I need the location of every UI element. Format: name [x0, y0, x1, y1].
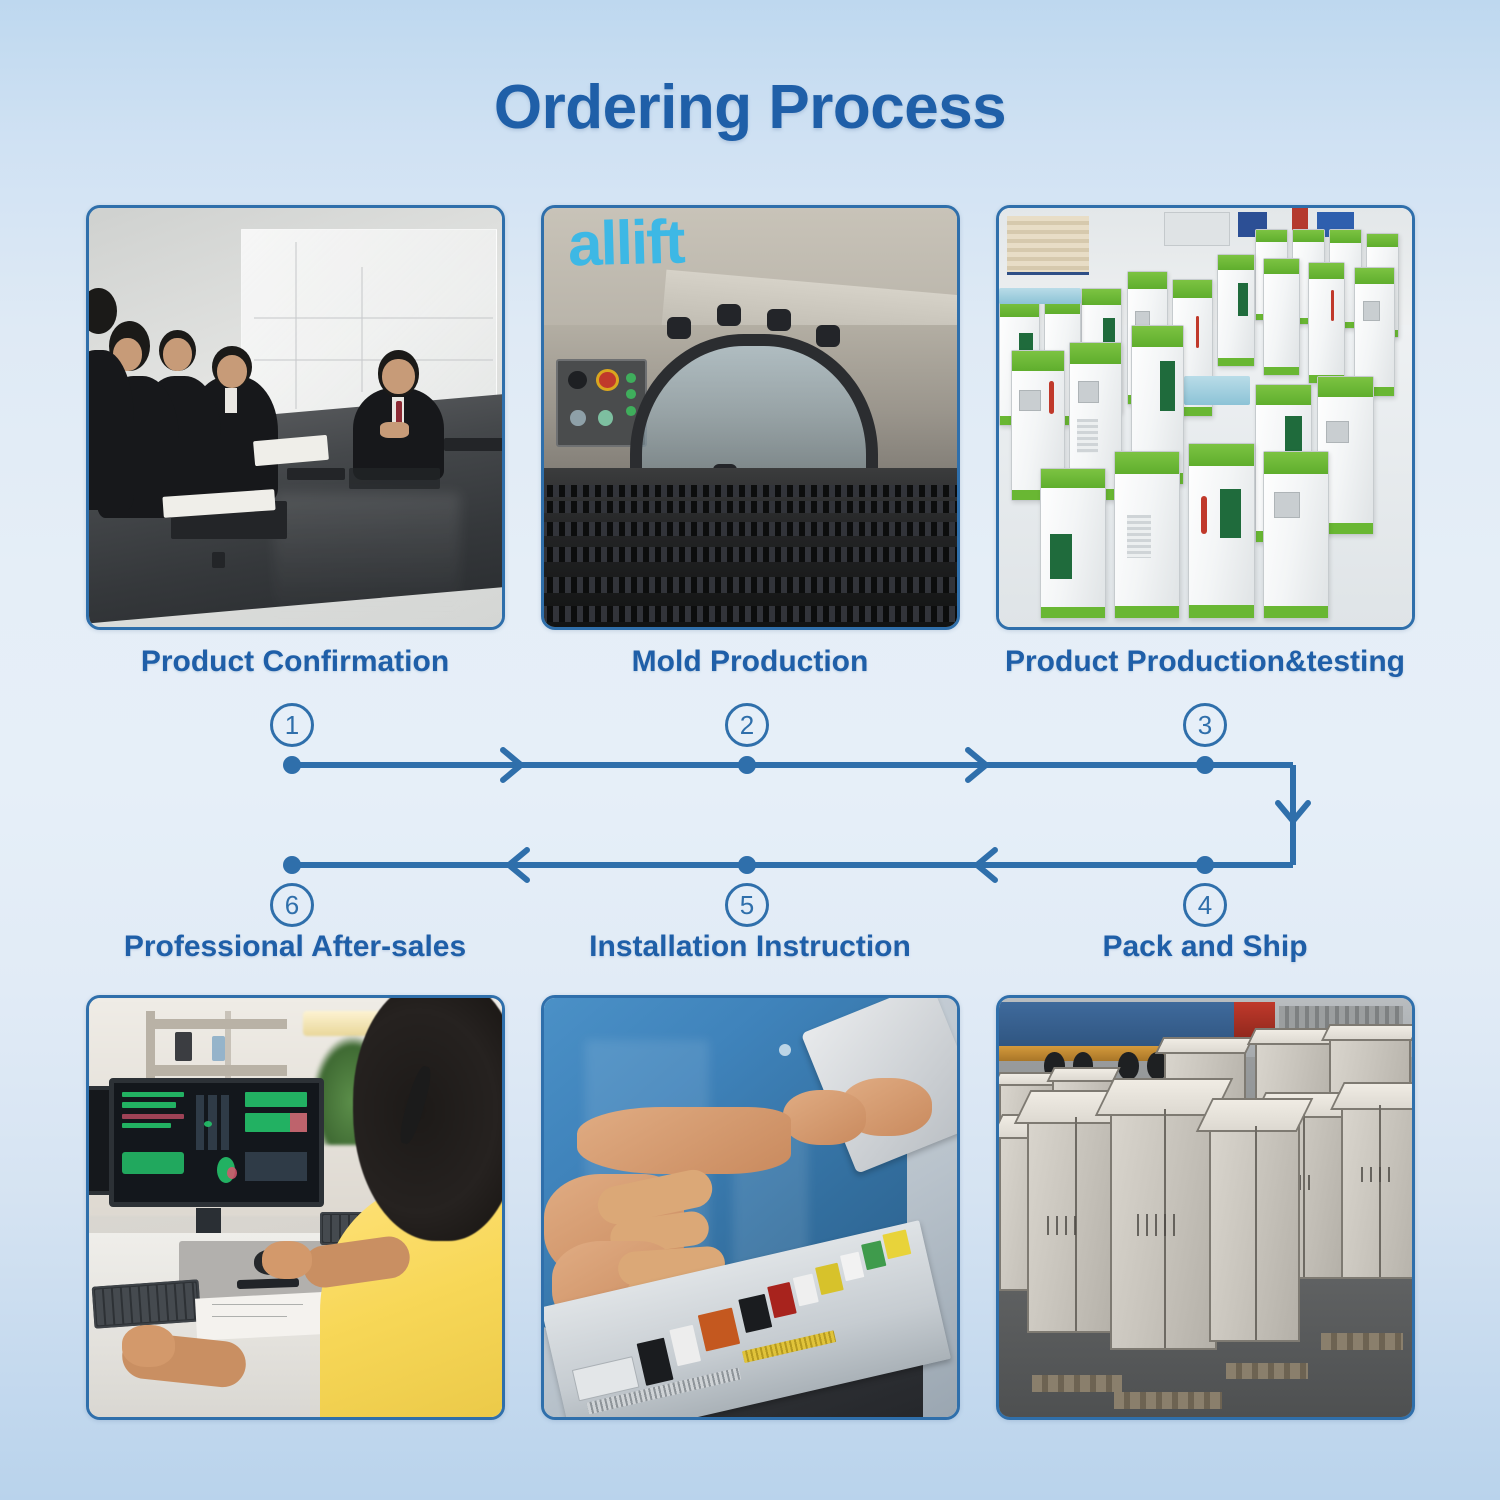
flow-node-2 — [738, 756, 756, 774]
flow-node-6 — [283, 856, 301, 874]
step-image-mold-production[interactable]: allift — [541, 205, 960, 630]
technician-pcb-photo — [544, 998, 957, 1417]
shipping-crates-photo — [999, 998, 1412, 1417]
process-flow-diagram: 1 2 3 4 5 6 — [0, 695, 1500, 925]
photo-row-bottom — [0, 995, 1500, 1420]
step-label-1: Product Confirmation — [68, 645, 523, 679]
flow-node-5 — [738, 856, 756, 874]
cnc-machine-photo: allift — [544, 208, 957, 627]
step-number-3: 3 — [1183, 703, 1227, 747]
production-floor-photo — [999, 208, 1412, 627]
step-image-product-confirmation[interactable] — [86, 205, 505, 630]
flow-node-4 — [1196, 856, 1214, 874]
step-image-professional-after-sales[interactable] — [86, 995, 505, 1420]
step-labels-bottom: Professional After-sales Installation In… — [0, 930, 1500, 964]
step-label-4: Pack and Ship — [978, 930, 1433, 964]
step-label-2: Mold Production — [523, 645, 978, 679]
step-number-6: 6 — [270, 883, 314, 927]
step-label-3: Product Production&testing — [978, 645, 1433, 679]
step-image-pack-and-ship[interactable] — [996, 995, 1415, 1420]
step-labels-top: Product Confirmation Mold Production Pro… — [0, 645, 1500, 679]
step-label-5: Installation Instruction — [523, 930, 978, 964]
page-title: Ordering Process — [0, 0, 1500, 143]
step-number-5: 5 — [725, 883, 769, 927]
photo-row-top: allift — [0, 205, 1500, 630]
step-number-1: 1 — [270, 703, 314, 747]
step-number-2: 2 — [725, 703, 769, 747]
flow-node-3 — [1196, 756, 1214, 774]
flow-node-1 — [283, 756, 301, 774]
step-number-4: 4 — [1183, 883, 1227, 927]
meeting-room-photo — [89, 208, 502, 627]
step-image-installation-instruction[interactable] — [541, 995, 960, 1420]
support-desk-photo — [89, 998, 502, 1417]
step-image-product-production-testing[interactable] — [996, 205, 1415, 630]
step-label-6: Professional After-sales — [68, 930, 523, 964]
